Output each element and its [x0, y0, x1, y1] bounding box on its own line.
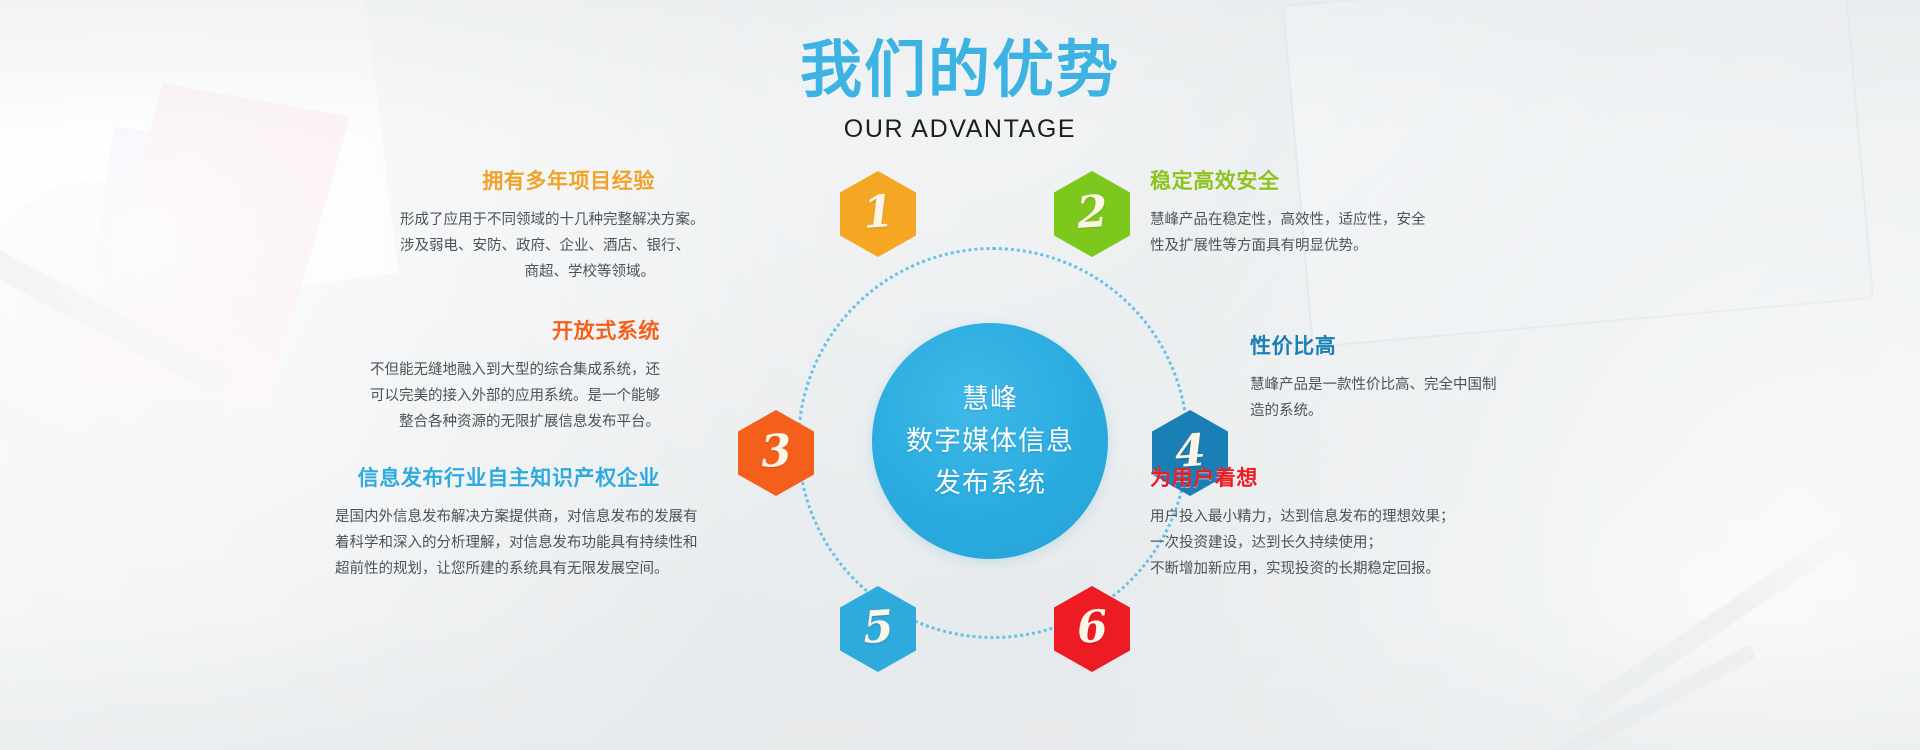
feature-item-4-line-1: 慧峰产品是一款性价比高、完全中国制 [1250, 372, 1520, 398]
feature-item-5: 信息发布行业自主知识产权企业 是国内外信息发布解决方案提供商，对信息发布的发展有… [335, 462, 660, 582]
feature-item-4: 性价比高 慧峰产品是一款性价比高、完全中国制 造的系统。 [1250, 330, 1520, 424]
feature-item-5-line-1: 是国内外信息发布解决方案提供商，对信息发布的发展有 [335, 504, 660, 530]
feature-item-2-title: 稳定高效安全 [1150, 165, 1450, 195]
feature-item-3-body: 不但能无缝地融入到大型的综合集成系统，还 可以完美的接入外部的应用系统。是一个能… [330, 357, 660, 435]
feature-item-1-line-2: 涉及弱电、安防、政府、企业、酒店、银行、 [400, 233, 655, 259]
center-circle-line-1: 慧峰 [962, 378, 1018, 420]
feature-item-3-title: 开放式系统 [330, 315, 660, 345]
feature-item-5-body: 是国内外信息发布解决方案提供商，对信息发布的发展有 着科学和深入的分析理解，对信… [335, 504, 660, 582]
feature-item-4-title: 性价比高 [1250, 330, 1520, 360]
feature-item-5-line-2: 着科学和深入的分析理解，对信息发布功能具有持续性和 [335, 530, 660, 556]
feature-item-5-title: 信息发布行业自主知识产权企业 [335, 462, 660, 492]
feature-item-2: 稳定高效安全 慧峰产品在稳定性，高效性，适应性，安全 性及扩展性等方面具有明显优… [1150, 165, 1450, 259]
feature-item-3-line-2: 可以完美的接入外部的应用系统。是一个能够 [330, 383, 660, 409]
hex-badge-6-number: 6 [1075, 605, 1109, 651]
hex-badge-1[interactable]: 1 [840, 171, 916, 257]
page-subtitle: OUR ADVANTAGE [0, 115, 1920, 144]
feature-item-2-line-2: 性及扩展性等方面具有明显优势。 [1150, 233, 1450, 259]
hex-badge-2-number: 2 [1075, 190, 1109, 236]
feature-item-1-line-3: 商超、学校等领域。 [400, 259, 655, 285]
feature-item-3-line-3: 整合各种资源的无限扩展信息发布平台。 [330, 409, 660, 435]
hex-badge-2[interactable]: 2 [1054, 171, 1130, 257]
hex-badge-5-number: 5 [861, 605, 895, 651]
feature-item-4-line-2: 造的系统。 [1250, 398, 1520, 424]
feature-item-4-body: 慧峰产品是一款性价比高、完全中国制 造的系统。 [1250, 372, 1520, 424]
feature-item-3-line-1: 不但能无缝地融入到大型的综合集成系统，还 [330, 357, 660, 383]
feature-item-6-title: 为用户着想 [1150, 462, 1480, 492]
feature-item-6-line-1: 用户投入最小精力，达到信息发布的理想效果； [1150, 504, 1480, 530]
center-circle: 慧峰 数字媒体信息 发布系统 [872, 323, 1108, 559]
hex-badge-1-number: 1 [861, 190, 895, 236]
feature-item-2-body: 慧峰产品在稳定性，高效性，适应性，安全 性及扩展性等方面具有明显优势。 [1150, 207, 1450, 259]
feature-item-5-line-3: 超前性的规划，让您所建的系统具有无限发展空间。 [335, 556, 660, 582]
feature-item-1: 拥有多年项目经验 形成了应用于不同领域的十几种完整解决方案。 涉及弱电、安防、政… [400, 165, 655, 285]
advantage-banner: 我们的优势 OUR ADVANTAGE 慧峰 数字媒体信息 发布系统 1 2 3… [0, 0, 1920, 750]
feature-item-6-line-3: 不断增加新应用，实现投资的长期稳定回报。 [1150, 556, 1480, 582]
feature-item-6-body: 用户投入最小精力，达到信息发布的理想效果； 一次投资建设，达到长久持续使用； 不… [1150, 504, 1480, 582]
feature-item-1-title: 拥有多年项目经验 [400, 165, 655, 195]
center-circle-line-2: 数字媒体信息 [906, 420, 1074, 462]
feature-item-1-body: 形成了应用于不同领域的十几种完整解决方案。 涉及弱电、安防、政府、企业、酒店、银… [400, 207, 655, 285]
page-title: 我们的优势 [0, 38, 1920, 103]
page-header: 我们的优势 OUR ADVANTAGE [0, 38, 1920, 144]
hex-badge-3-number: 3 [759, 429, 793, 475]
feature-item-6-line-2: 一次投资建设，达到长久持续使用； [1150, 530, 1480, 556]
feature-item-2-line-1: 慧峰产品在稳定性，高效性，适应性，安全 [1150, 207, 1450, 233]
center-circle-line-3: 发布系统 [934, 462, 1046, 504]
feature-item-6: 为用户着想 用户投入最小精力，达到信息发布的理想效果； 一次投资建设，达到长久持… [1150, 462, 1480, 582]
feature-item-1-line-1: 形成了应用于不同领域的十几种完整解决方案。 [400, 207, 655, 233]
feature-item-3: 开放式系统 不但能无缝地融入到大型的综合集成系统，还 可以完美的接入外部的应用系… [330, 315, 660, 435]
